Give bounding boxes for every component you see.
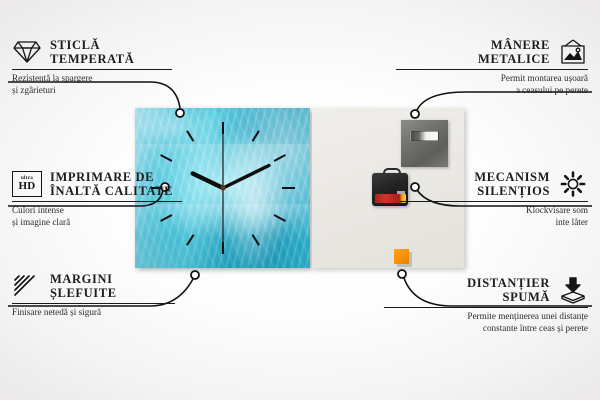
diamond-icon [12, 39, 42, 65]
feature-title-line2: SPUMĂ [467, 290, 550, 304]
polished-edges-icon [12, 274, 42, 298]
feature-subtitle-line2: constante între ceas și perete [384, 323, 588, 335]
feature-polished-edges: MARGINI ȘLEFUITE Finisare netedă și sigu… [12, 272, 207, 319]
feature-metal-handles: MÂNERE METALICE Permit montarea ușoară a… [396, 38, 588, 96]
feature-subtitle-line1: Klockvisare som [400, 205, 588, 217]
feature-title-line2: TEMPERATĂ [50, 52, 134, 66]
feature-title-line1: DISTANȚIER [467, 276, 550, 290]
feature-rule [12, 69, 172, 70]
infographic-stage: STICLĂ TEMPERATĂ Rezistență la spargere … [0, 0, 600, 400]
feature-subtitle-line2: și zgârieturi [12, 85, 202, 97]
wall-frame-icon [558, 38, 588, 66]
feature-title-line1: MECANISM [474, 170, 550, 184]
feature-title-line1: MARGINI [50, 272, 117, 286]
feature-rule [12, 303, 175, 304]
feature-title-line2: SILENȚIOS [474, 184, 550, 198]
ultra-hd-bottom: HD [18, 181, 35, 192]
feature-title-line1: MÂNERE [478, 38, 550, 52]
feature-title-line1: STICLĂ [50, 38, 134, 52]
feature-foam-spacer: DISTANȚIER SPUMĂ Permite menținerea unei… [384, 276, 588, 334]
feature-subtitle-line1: Culori intense [12, 205, 217, 217]
feature-subtitle-line1: Permit montarea ușoară [396, 73, 588, 85]
feature-subtitle-line1: Rezistență la spargere [12, 73, 202, 85]
feature-title-line2: METALICE [478, 52, 550, 66]
feature-rule [384, 307, 588, 308]
feature-tempered-glass: STICLĂ TEMPERATĂ Rezistență la spargere … [12, 38, 202, 96]
feature-silent-mechanism: MECANISM SILENȚIOS Klockvisare som inte … [400, 170, 588, 228]
feature-subtitle-line1: Finisare netedă și sigură [12, 307, 207, 319]
feature-subtitle-line2: a ceasului pe perete [396, 85, 588, 97]
feature-high-quality-print: ultra HD IMPRIMARE DE ÎNALTĂ CALITATE Cu… [12, 170, 217, 228]
down-arrow-stack-icon [558, 276, 588, 304]
feature-title-line1: IMPRIMARE DE [50, 170, 173, 184]
gear-icon [558, 170, 588, 198]
feature-subtitle-line2: inte låter [400, 217, 588, 229]
endpoint-tempered-glass [176, 109, 184, 117]
feature-rule [12, 201, 182, 202]
endpoint-handles [411, 110, 419, 118]
feature-rule [400, 201, 588, 202]
feature-title-line2: ȘLEFUITE [50, 286, 117, 300]
feature-subtitle-line1: Permite menținerea unei distanțe [384, 311, 588, 323]
feature-title-line2: ÎNALTĂ CALITATE [50, 184, 173, 198]
ultra-hd-icon: ultra HD [12, 171, 42, 197]
feature-rule [396, 69, 588, 70]
feature-subtitle-line2: și imagine clară [12, 217, 217, 229]
